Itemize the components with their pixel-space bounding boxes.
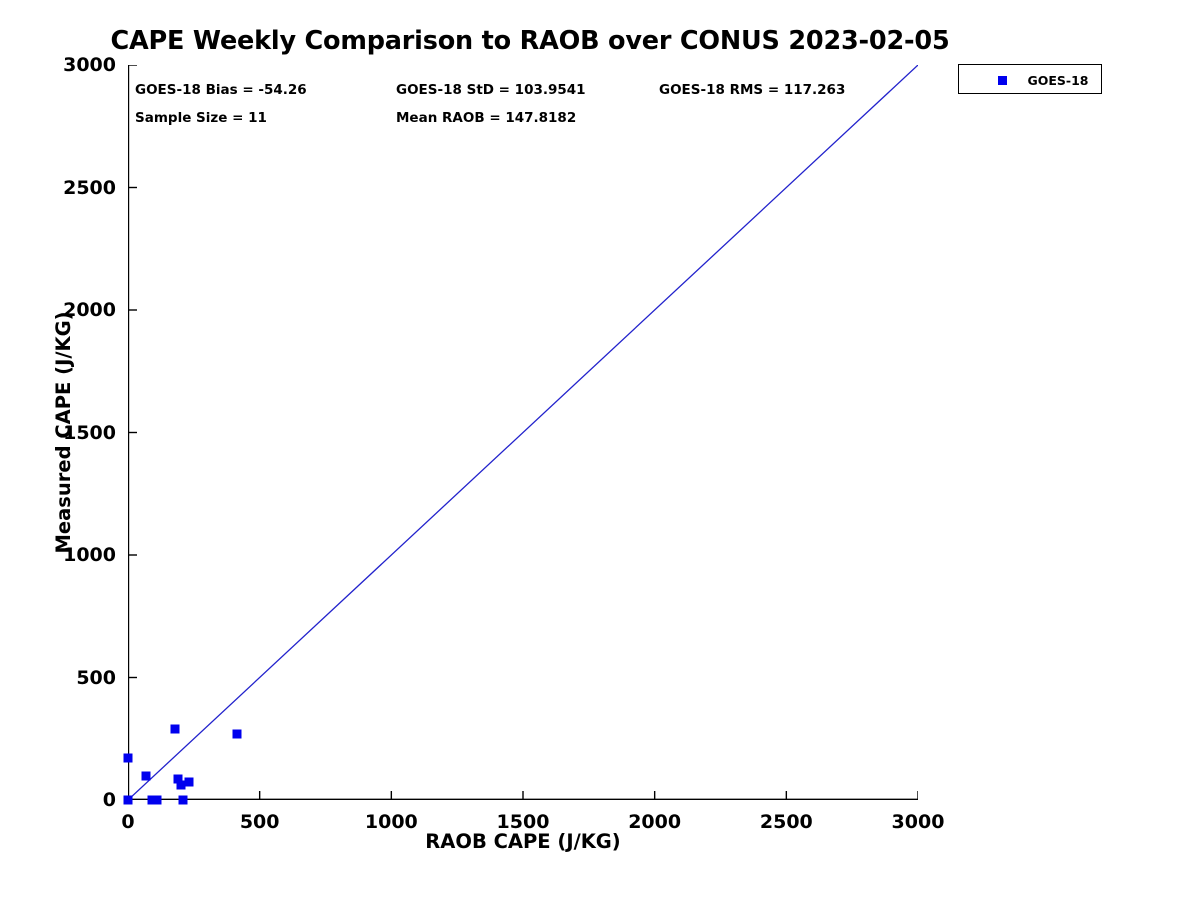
scatter-point: [179, 796, 188, 805]
x-tick-label: 0: [121, 811, 134, 833]
legend-marker-goes-18: [998, 76, 1007, 85]
scatter-point: [124, 796, 133, 805]
x-tick-label: 1000: [365, 811, 418, 833]
scatter-point: [152, 796, 161, 805]
x-tick-label: 2500: [760, 811, 813, 833]
one-to-one-line: [128, 65, 918, 800]
scatter-point: [124, 754, 133, 763]
scatter-point: [171, 724, 180, 733]
y-tick-label: 0: [36, 789, 116, 811]
x-tick-label: 3000: [892, 811, 945, 833]
chart-figure: CAPE Weekly Comparison to RAOB over CONU…: [0, 0, 1200, 900]
scatter-point: [142, 771, 151, 780]
y-tick-label: 3000: [36, 54, 116, 76]
plot-frame-svg: [128, 65, 918, 800]
y-tick-label: 2500: [36, 177, 116, 199]
x-axis-title: RAOB CAPE (J/KG): [128, 830, 918, 853]
y-tick-label: 1000: [36, 544, 116, 566]
y-tick-label: 500: [36, 667, 116, 689]
plot-area: 0500100015002000250030000500100015002000…: [128, 65, 918, 800]
x-tick-label: 500: [240, 811, 280, 833]
scatter-point: [184, 777, 193, 786]
x-tick-label: 2000: [628, 811, 681, 833]
y-tick-label: 1500: [36, 422, 116, 444]
reference-line: [128, 65, 918, 800]
y-tick-label: 2000: [36, 299, 116, 321]
x-tick-label: 1500: [497, 811, 550, 833]
legend-label-goes-18: GOES-18: [1021, 73, 1095, 88]
chart-title: CAPE Weekly Comparison to RAOB over CONU…: [0, 26, 1060, 56]
scatter-point: [232, 729, 241, 738]
legend[interactable]: GOES-18: [958, 64, 1102, 94]
